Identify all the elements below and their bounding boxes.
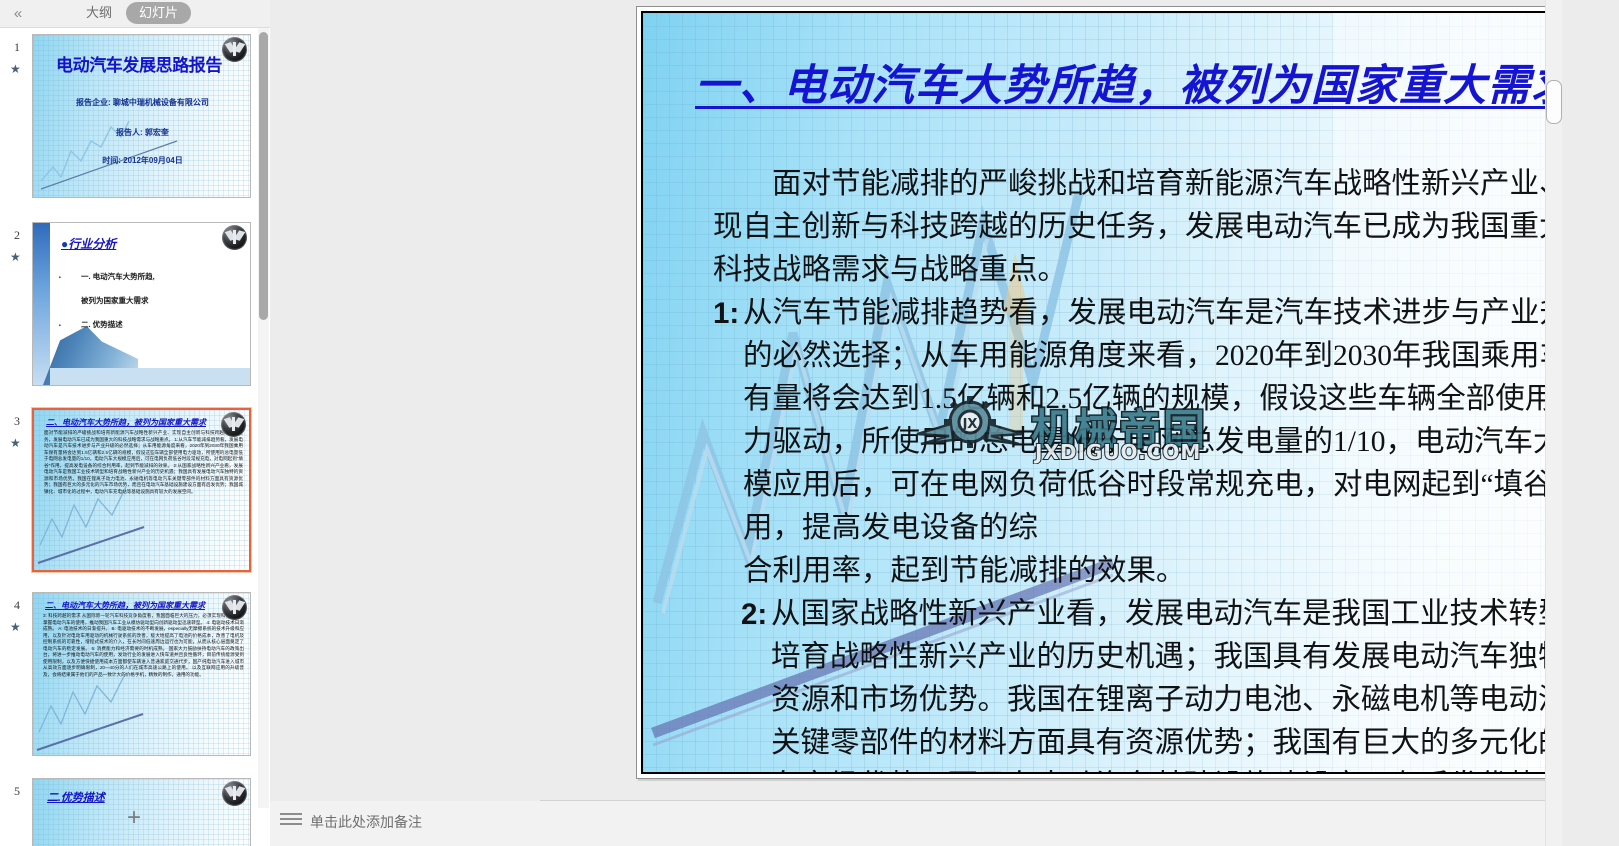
slide-star-marker: ★: [10, 62, 20, 76]
thumb-footer-band: [50, 368, 250, 385]
thumb-title: 电动汽车发展思路报告: [40, 51, 238, 76]
collapse-panel-button[interactable]: «: [6, 3, 30, 24]
item-number: 1:: [713, 292, 739, 335]
thumbnail-scrollbar-thumb[interactable]: [259, 32, 268, 320]
item-number: 2:: [741, 593, 767, 636]
thumb-line: 被列为国家重大需求: [81, 295, 149, 306]
body-numbered-item: 2: 从国家战略性新兴产业看，发展电动汽车是我国工业技术转型和培育战略性新兴产业…: [713, 593, 1601, 774]
slide-thumbnail-2[interactable]: ●行业分析 ■ 一. 电动汽车大势所趋, 被列为国家重大需求 ■ 二. 优势描述: [32, 222, 251, 386]
thumb-body-text: 面对节能减排的严峻挑战和培育新能源汽车战略性新兴产业、实现自主创新与科技跨越的历…: [44, 430, 243, 495]
current-slide-canvas[interactable]: 一、电动汽车大势所趋，被列为国家重大需求 面对节能减排的严峻挑战和培育新能源汽车…: [636, 6, 1619, 779]
notes-lines-icon: [280, 813, 302, 827]
thumb-logo-icon: [222, 37, 247, 62]
svg-text:JX: JX: [962, 417, 978, 432]
slide-body-textbox[interactable]: 面对节能减排的严峻挑战和培育新能源汽车战略性新兴产业、实现自主创新与科技跨越的历…: [713, 163, 1601, 774]
tab-outline[interactable]: 大纲: [78, 2, 120, 24]
slide-title-underline: [695, 106, 1601, 109]
thumb-title: 二.优势描述: [47, 789, 105, 805]
thumb-line: 时间: 2012年09月04日: [40, 155, 245, 166]
thumb-title: 二、电动汽车大势所趋，被列为国家重大需求: [46, 417, 206, 428]
slide-title[interactable]: 一、电动汽车大势所趋，被列为国家重大需求: [695, 51, 1605, 113]
slide-star-marker: ★: [10, 436, 20, 450]
thumb-logo-icon: [221, 412, 246, 437]
main-scrollbar-track[interactable]: ▲: [1545, 0, 1562, 846]
item-text: 从国家战略性新兴产业看，发展电动汽车是我国工业技术转型和培育战略性新兴产业的历史…: [771, 598, 1597, 774]
navigator-tab-bar: « 大纲 幻灯片: [0, 0, 270, 28]
right-gutter: [1561, 0, 1619, 846]
thumb-line: 报告企业: 聊城中瑞机械设备有限公司: [40, 97, 245, 108]
notes-placeholder[interactable]: 单击此处添加备注: [310, 812, 422, 832]
thumb-logo-icon: [222, 595, 247, 620]
thumb-line: 一. 电动汽车大势所趋,: [81, 271, 155, 282]
thumb-title: ●行业分析: [61, 235, 116, 252]
add-slide-button[interactable]: +: [122, 806, 146, 830]
slide-navigator-panel: « 大纲 幻灯片 1 ★ 电动汽车发展思路报告 报告企业: 聊城中瑞机械设备有限…: [0, 0, 270, 846]
slide-thumbnail-3[interactable]: 二、电动汽车大势所趋，被列为国家重大需求 面对节能减排的严峻挑战和培育新能源汽车…: [32, 408, 251, 572]
thumb-logo-icon: [222, 225, 247, 250]
thumb-line: 报告人: 郭宏奎: [40, 127, 245, 138]
thumb-chart-art: [37, 111, 197, 193]
slide-star-marker: ★: [10, 250, 20, 264]
main-scrollbar-thumb[interactable]: [1546, 80, 1562, 124]
thumb-logo-icon: [222, 781, 247, 806]
winged-gear-emblem-icon: JX: [915, 392, 1025, 464]
slide-number: 5: [14, 784, 20, 799]
watermark-url: JXDIGUO.COM: [1035, 440, 1201, 464]
thumb-title: 二、电动汽车大势所趋，被列为国家重大需求: [45, 600, 205, 611]
slide-number: 1: [14, 40, 20, 55]
thumb-line: 二. 优势描述: [81, 319, 123, 330]
body-paragraph: 合利用率，起到节能减排的效果。: [713, 550, 1601, 593]
body-paragraph: 面对节能减排的严峻挑战和培育新能源汽车战略性新兴产业、实现自主创新与科技跨越的历…: [713, 163, 1601, 292]
slide-number: 2: [14, 228, 20, 243]
slide-thumbnail-4[interactable]: 二、电动汽车大势所趋，被列为国家重大需求 3: 科技跨越的需求 从国际新一轮汽车…: [32, 592, 251, 756]
slide-star-marker: ★: [10, 620, 20, 634]
thumb-body-text: 3: 科技跨越的需求 从国际新一轮汽车科技竞争角度看，我国面临巨大的压力，必须实…: [43, 613, 244, 678]
slide-thumbnail-1[interactable]: 电动汽车发展思路报告 报告企业: 聊城中瑞机械设备有限公司 报告人: 郭宏奎 时…: [32, 34, 251, 198]
notes-pane[interactable]: 单击此处添加备注: [270, 801, 1619, 846]
slide-number: 4: [14, 598, 20, 613]
slide-editing-stage: 一、电动汽车大势所趋，被列为国家重大需求 面对节能减排的严峻挑战和培育新能源汽车…: [270, 0, 1619, 846]
site-watermark: JX 机械帝国 JXDIGUO.COM: [915, 388, 1215, 468]
thumb-side-bar: [33, 223, 50, 385]
tab-slides[interactable]: 幻灯片: [126, 2, 191, 24]
slide-number: 3: [14, 414, 20, 429]
powerpoint-window: « 大纲 幻灯片 1 ★ 电动汽车发展思路报告 报告企业: 聊城中瑞机械设备有限…: [0, 0, 1619, 846]
